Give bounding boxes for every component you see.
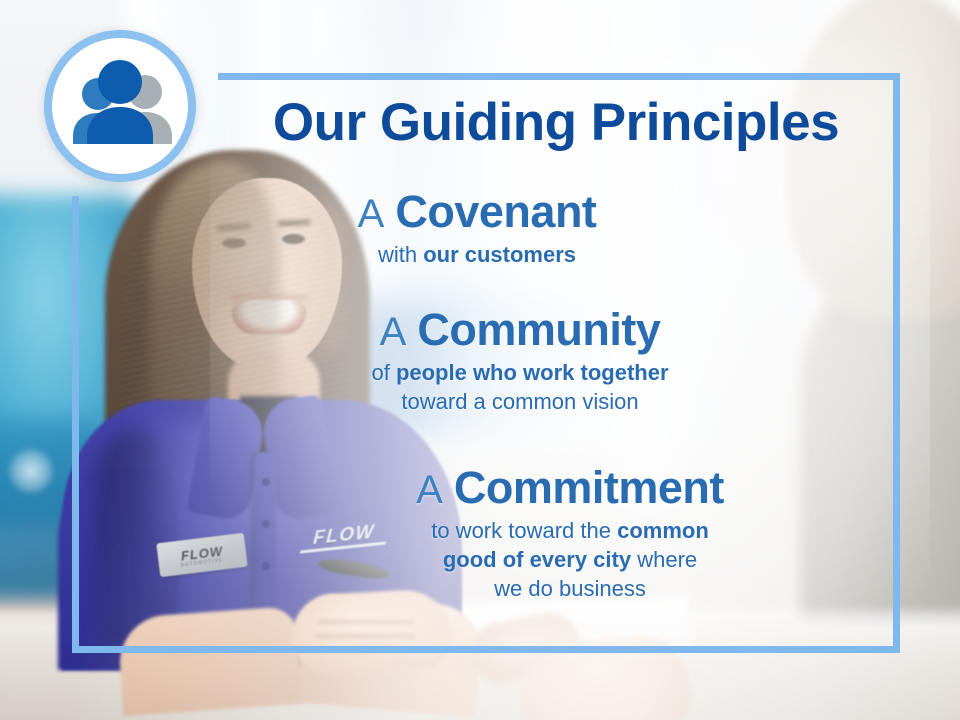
principle-subtext-line: we do business — [180, 574, 960, 603]
customer-hair — [785, 0, 960, 330]
principle-subtext: to work toward the commongood of every c… — [0, 516, 960, 603]
guiding-principles-graphic: FLOW AUTOMOTIVE FLOW — [0, 0, 960, 720]
principle-community: A Community of people who work togethert… — [0, 304, 960, 416]
principle-keyword: Community — [417, 304, 660, 355]
subtext-plain: to work toward the — [431, 518, 617, 543]
subtext-plain: toward a common vision — [401, 389, 638, 414]
subtext-plain: with — [378, 242, 423, 267]
page-title: Our Guiding Principles — [218, 92, 894, 153]
principle-subtext-line: to work toward the common — [180, 516, 960, 545]
principle-heading: A Community — [0, 304, 960, 356]
principle-heading: A Commitment — [0, 462, 960, 514]
principle-article: A — [416, 468, 443, 512]
frame-border-bottom — [72, 646, 900, 653]
finger-line — [318, 620, 414, 624]
subtext-plain: of — [371, 360, 395, 385]
subtext-emphasis: our customers — [423, 242, 576, 267]
finger-line — [316, 634, 416, 638]
subtext-emphasis: people who work together — [396, 360, 669, 385]
principle-keyword: Covenant — [395, 186, 596, 237]
principle-subtext: of people who work togethertoward a comm… — [0, 358, 960, 416]
principle-subtext-line: of people who work together — [80, 358, 960, 387]
employee-forearm — [117, 606, 303, 716]
principle-commitment: A Commitment to work toward the commongo… — [0, 462, 960, 603]
subtext-plain: where — [631, 547, 697, 572]
principle-subtext-line: good of every city where — [180, 545, 960, 574]
subtext-plain: we do business — [494, 576, 646, 601]
principle-subtext: with our customers — [0, 240, 930, 269]
people-group-icon — [44, 30, 196, 182]
principle-article: A — [358, 192, 385, 236]
subtext-emphasis: common — [617, 518, 709, 543]
principle-subtext-line: toward a common vision — [80, 387, 960, 416]
principle-article: A — [380, 310, 407, 354]
principle-covenant: A Covenant with our customers — [0, 186, 930, 269]
principle-heading: A Covenant — [0, 186, 930, 238]
principle-keyword: Commitment — [454, 462, 724, 513]
subtext-emphasis: good of every city — [443, 547, 631, 572]
frame-border-top — [218, 73, 900, 80]
principle-subtext-line: with our customers — [24, 240, 930, 269]
